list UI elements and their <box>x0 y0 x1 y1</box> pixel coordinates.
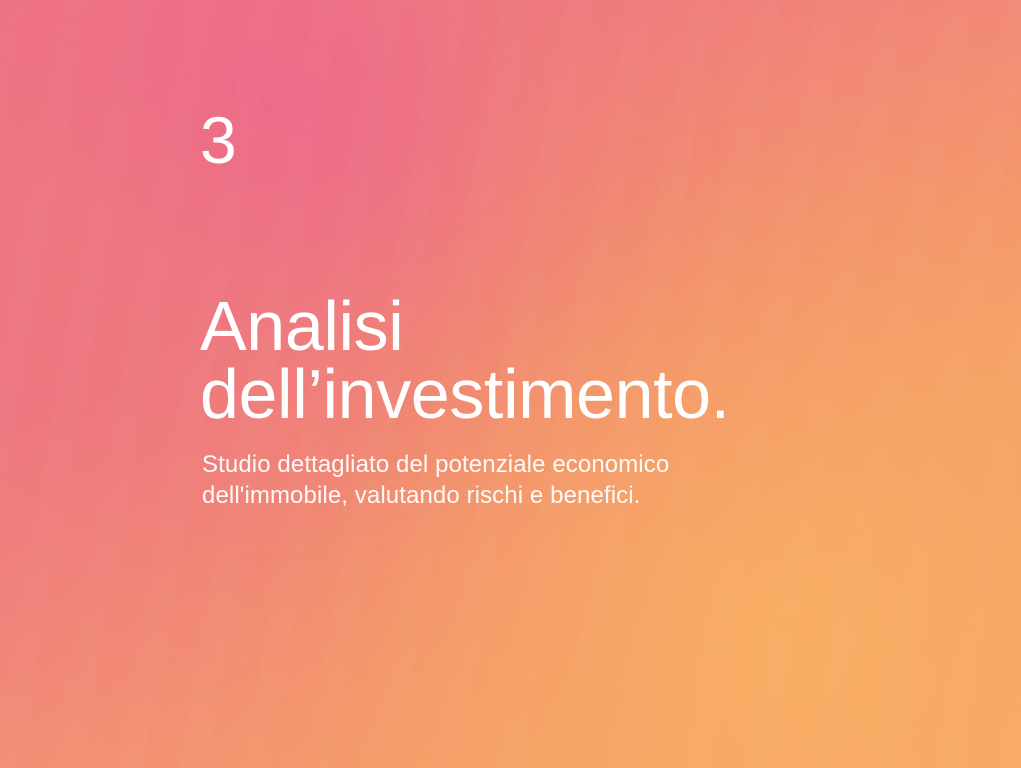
slide-subtitle: Studio dettagliato del potenziale econom… <box>202 449 842 511</box>
section-number: 3 <box>200 107 237 173</box>
presentation-slide: 3 Analisi dell’investimento. Studio dett… <box>0 0 1021 768</box>
slide-content: 3 Analisi dell’investimento. Studio dett… <box>200 0 960 768</box>
slide-title: Analisi dell’investimento. <box>200 292 960 428</box>
